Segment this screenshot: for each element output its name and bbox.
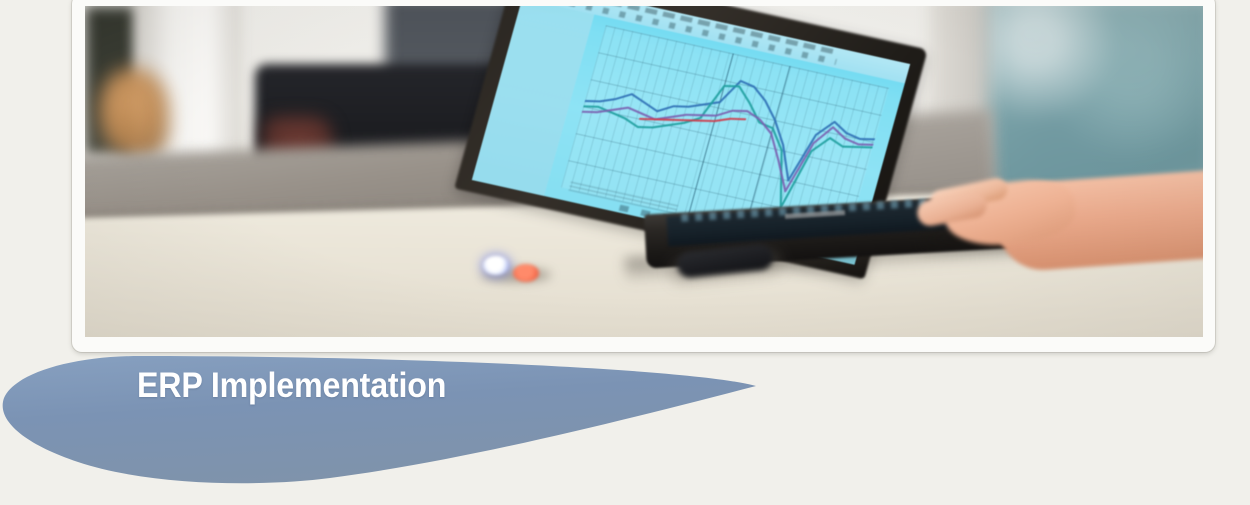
chart-series-series-red (640, 97, 745, 141)
photo-laptop (85, 6, 1203, 337)
title-banner (0, 340, 790, 505)
chart-series-series-blue (576, 50, 882, 197)
page-root: ERP Implementation (0, 0, 1250, 505)
hero-image-frame (85, 6, 1203, 337)
photo-orange-dot (513, 264, 539, 282)
banner-shape (0, 340, 790, 505)
photo-white-glowing-dot (483, 256, 509, 275)
hero-photo (85, 6, 1203, 337)
hero-image-card (72, 0, 1215, 352)
page-title: ERP Implementation (137, 368, 446, 403)
chart-series-series-purple (573, 74, 876, 207)
